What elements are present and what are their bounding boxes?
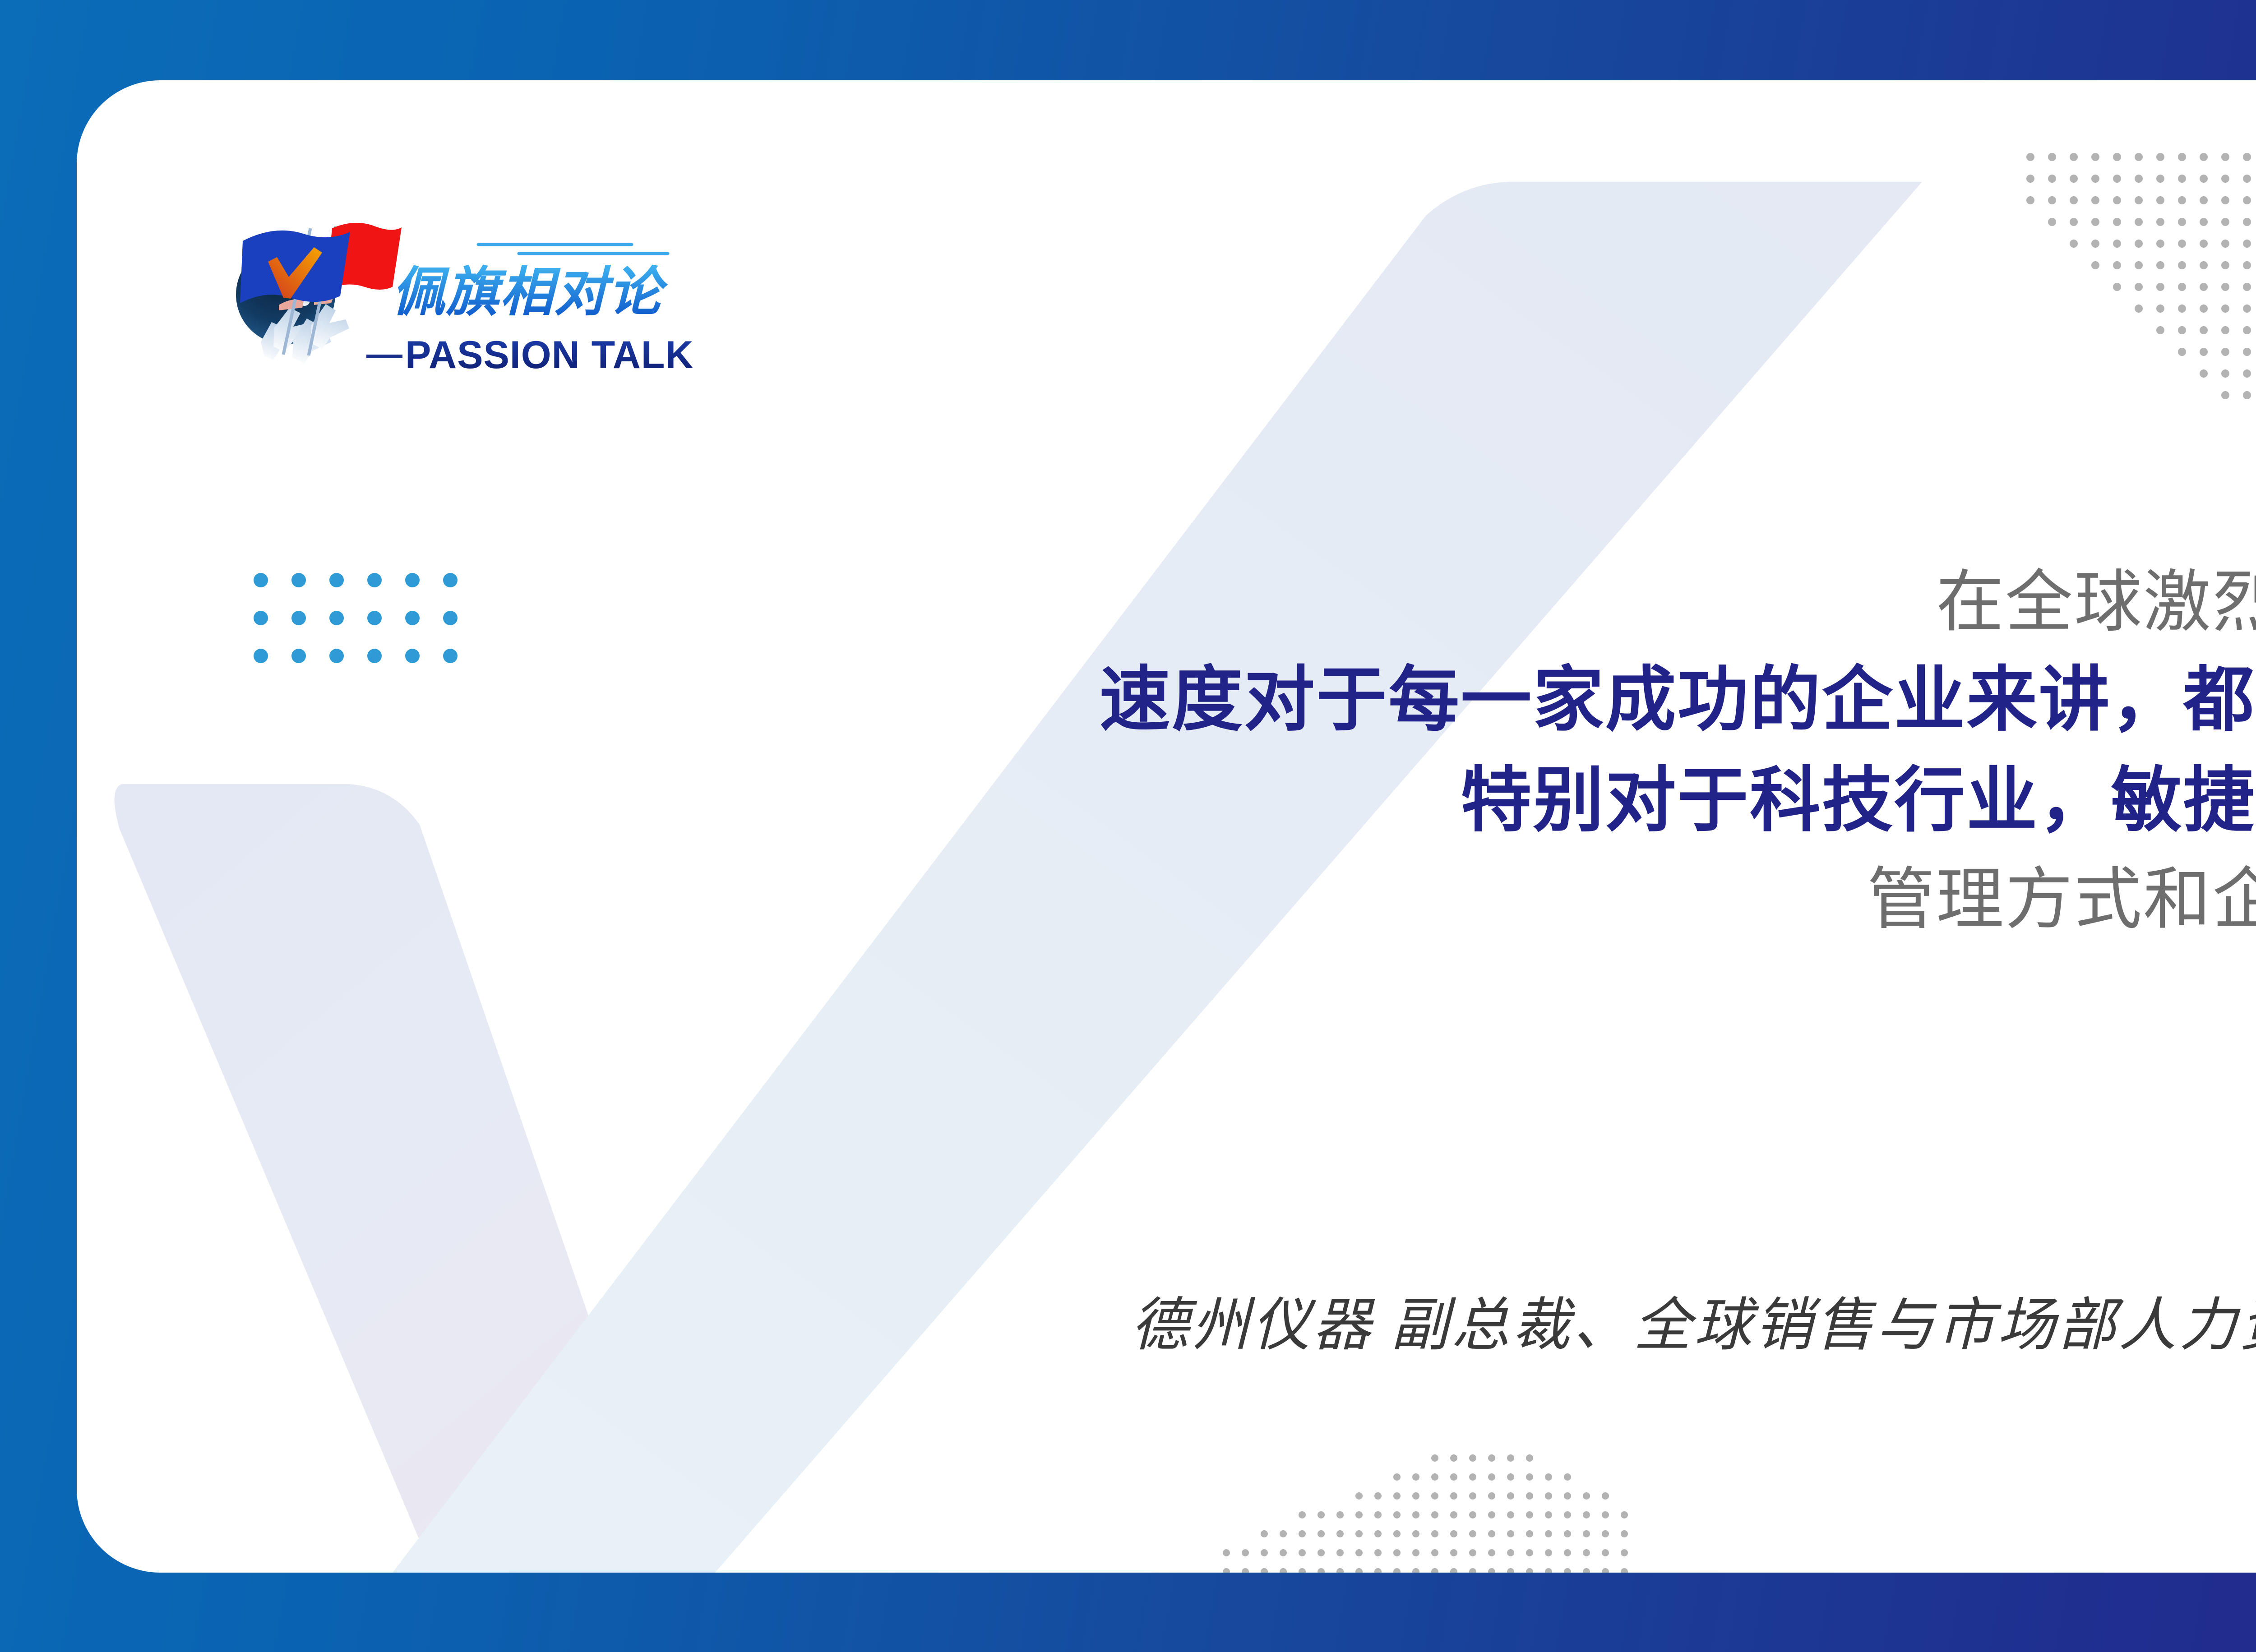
quote-attribution: 德州仪器 副总裁、全球销售与市场部人力资源总监——祝薇女士	[528, 1278, 2256, 1361]
content-card: 佩旗相对论 PASSION TALK 在全球激烈的市场竞争环境下 速度对于每一家…	[77, 80, 2256, 1573]
logo-title-cn: 佩旗相对论	[392, 263, 668, 322]
gray-dot-triangle-decoration-top-right	[2026, 152, 2256, 414]
slide-root: 佩旗相对论 PASSION TALK 在全球激烈的市场竞争环境下 速度对于每一家…	[0, 0, 2256, 1652]
logo-title-en: PASSION TALK	[405, 333, 694, 377]
blue-flag-icon	[240, 231, 350, 303]
blue-dot-grid-decoration	[254, 573, 466, 690]
speed-lines-icon	[478, 245, 668, 254]
quote-line-3: 特别对于科技行业，敏捷性体现在组织架构	[528, 751, 2256, 851]
gray-dot-pyramid-decoration-bottom	[1223, 1454, 1629, 1573]
logo-artwork: 佩旗相对论 PASSION TALK	[226, 207, 785, 401]
quote-line-1: 在全球激烈的市场竞争环境下	[528, 554, 2256, 650]
passion-talk-logo: 佩旗相对论 PASSION TALK	[226, 207, 785, 401]
quote-line-2: 速度对于每一家成功的企业来讲，都是不可或缺的因素	[528, 650, 2256, 751]
quote-block: 在全球激烈的市场竞争环境下 速度对于每一家成功的企业来讲，都是不可或缺的因素 特…	[528, 554, 2256, 947]
quote-line-4: 管理方式和企业文化等各个方面	[528, 851, 2256, 947]
